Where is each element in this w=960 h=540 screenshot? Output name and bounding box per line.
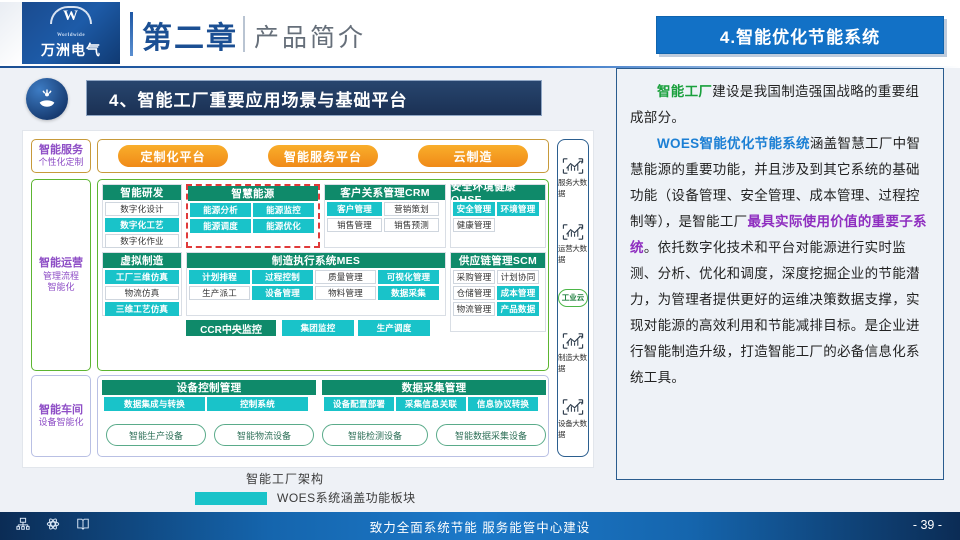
cell[interactable]: 控制系统 — [207, 397, 308, 411]
cell-blank — [497, 218, 539, 232]
cell[interactable]: 安全管理 — [453, 202, 495, 216]
bigdata-item-service[interactable]: 服务大数据 — [558, 156, 588, 199]
platform-row: 定制化平台 智能服务平台 云制造 — [97, 139, 549, 173]
module-equipment-control[interactable]: 设备控制管理 数据集成与转换 控制系统 — [102, 380, 316, 416]
paragraph-1: 智能工厂建设是我国制造强国战略的重要组成部分。 — [630, 79, 930, 131]
cell[interactable]: 能源分析 — [190, 203, 251, 217]
cell[interactable]: 采购管理 — [453, 270, 495, 284]
cell[interactable]: 营销策划 — [384, 202, 439, 216]
module-cells: 能源分析 能源监控 能源调度 能源优化 — [188, 201, 318, 235]
module-title: 智能研发 — [103, 185, 181, 200]
module-cells: 数据集成与转换 控制系统 — [102, 395, 316, 413]
page-number: - 39 - — [913, 518, 942, 532]
device-oval-logistics[interactable]: 智能物流设备 — [214, 424, 314, 446]
cell[interactable]: 产品数据 — [497, 302, 539, 316]
platform-customization[interactable]: 定制化平台 — [118, 145, 228, 167]
chapter-separator — [243, 16, 245, 52]
section-title: 4、智能工厂重要应用场景与基础平台 — [86, 80, 542, 116]
cell[interactable]: 健康管理 — [453, 218, 495, 232]
cell[interactable]: 计划协同 — [497, 270, 539, 284]
chart-bracket-icon — [561, 156, 585, 176]
cell[interactable]: 设备管理 — [252, 286, 313, 300]
module-mes[interactable]: 制造执行系统MES 计划排程 过程控制 质量管理 可视化管理 生产派工 设备管理… — [186, 252, 446, 316]
cell[interactable]: 可视化管理 — [378, 270, 439, 284]
keyword-woes: WOES智能优化节能系统 — [657, 136, 810, 151]
bigdata-item-operation[interactable]: 运营大数据 — [558, 222, 588, 265]
cell[interactable]: 数字化作业 — [105, 234, 179, 248]
level-label-smart-workshop: 智能车间 设备智能化 — [31, 375, 91, 457]
right-panel-title: 4.智能优化节能系统 — [656, 16, 944, 54]
module-smart-energy[interactable]: 智慧能源 能源分析 能源监控 能源调度 能源优化 — [186, 184, 320, 248]
cell[interactable]: 物流管理 — [453, 302, 495, 316]
cell[interactable]: 计划排程 — [189, 270, 250, 284]
cell[interactable]: 质量管理 — [315, 270, 376, 284]
cell[interactable]: 信息协议转换 — [468, 397, 538, 411]
module-title: 设备控制管理 — [102, 380, 316, 395]
module-cells: 数字化设计 数字化工艺 数字化作业 — [103, 200, 181, 250]
cell[interactable]: 生产派工 — [189, 286, 250, 300]
keyword-smart-factory: 智能工厂 — [657, 84, 712, 99]
chapter-number: 第二章 — [142, 13, 238, 57]
platform-cloud-manufacturing[interactable]: 云制造 — [418, 145, 528, 167]
module-cells: 工厂三维仿真 物流仿真 三维工艺仿真 — [103, 268, 181, 318]
logo-english-name: Worldwide — [57, 33, 85, 38]
cell[interactable]: 成本管理 — [497, 286, 539, 300]
cell[interactable]: 集团监控 — [282, 320, 354, 336]
module-ccr-row: CCR中央监控 集团监控 生产调度 — [186, 320, 446, 340]
chart-bracket-icon — [561, 222, 585, 242]
cell[interactable]: 数据集成与转换 — [104, 397, 205, 411]
module-title: 供应链管理SCM — [451, 253, 545, 268]
paragraph-2: WOES智能优化节能系统涵盖智慧工厂中智慧能源的重要功能，并且涉及到其它系统的基… — [630, 131, 930, 391]
level-label-smart-service: 智能服务 个性化定制 — [31, 139, 91, 173]
level-label-title: 智能车间 — [39, 404, 83, 418]
bigdata-label: 运营大数据 — [558, 243, 588, 265]
footer-slogan: 致力全面系统节能 服务能管中心建设 — [0, 512, 960, 540]
chapter-title: 产品简介 — [254, 18, 366, 54]
legend-color-swatch — [195, 492, 267, 505]
cell[interactable]: 能源监控 — [253, 203, 314, 217]
logo-mark-icon: W — [44, 6, 98, 32]
cell[interactable]: 能源调度 — [190, 219, 251, 233]
module-cells: 设备配置部署 采集信息关联 信息协议转换 — [322, 395, 546, 413]
module-cells: 安全管理 环境管理 健康管理 — [451, 200, 545, 234]
module-cells: 采购管理 计划协同 仓储管理 成本管理 物流管理 产品数据 — [451, 268, 545, 318]
module-title: 数据采集管理 — [322, 380, 546, 395]
cell[interactable]: 销售管理 — [327, 218, 382, 232]
module-cells: 客户管理 营销策划 销售管理 销售预测 — [325, 200, 445, 234]
logo-chinese-name: 万洲电气 — [41, 40, 101, 60]
module-title: 虚拟制造 — [103, 253, 181, 268]
cell[interactable]: 数字化工艺 — [105, 218, 179, 232]
company-logo: W Worldwide 万洲电气 — [22, 2, 120, 64]
paragraph-2-b: 。依托数字化技术和平台对能源进行实时监测、分析、优化和调度，深度挖掘企业的节能潜… — [630, 240, 920, 385]
cell[interactable]: 仓储管理 — [453, 286, 495, 300]
bigdata-item-manufacturing[interactable]: 制造大数据 — [558, 331, 588, 374]
cell[interactable]: 客户管理 — [327, 202, 382, 216]
logo-w-letter: W — [44, 8, 98, 25]
chart-bracket-icon — [561, 397, 585, 417]
module-qhse[interactable]: 安全环境健康QHSE 安全管理 环境管理 健康管理 — [450, 184, 546, 248]
footer-bar: 致力全面系统节能 服务能管中心建设 - 39 - — [0, 512, 960, 540]
bigdata-label: 设备大数据 — [558, 418, 588, 440]
cell[interactable]: 物流仿真 — [105, 286, 179, 300]
cell[interactable]: 环境管理 — [497, 202, 539, 216]
level-label-sub: 个性化定制 — [38, 157, 83, 168]
legend-text: WOES系统涵盖功能板块 — [277, 489, 416, 506]
module-cells: 计划排程 过程控制 质量管理 可视化管理 生产派工 设备管理 物料管理 数据采集 — [187, 268, 445, 302]
module-title: 安全环境健康QHSE — [451, 185, 545, 200]
module-virtual-manufacturing[interactable]: 虚拟制造 工厂三维仿真 物流仿真 三维工艺仿真 — [102, 252, 182, 316]
cell[interactable]: 销售预测 — [384, 218, 439, 232]
bigdata-label: 制造大数据 — [558, 352, 588, 374]
device-oval-production[interactable]: 智能生产设备 — [106, 424, 206, 446]
level-label-sub-2: 智能化 — [47, 282, 74, 293]
cell[interactable]: 过程控制 — [252, 270, 313, 284]
module-title: 客户关系管理CRM — [325, 185, 445, 200]
module-data-acquisition[interactable]: 数据采集管理 设备配置部署 采集信息关联 信息协议转换 — [322, 380, 546, 416]
level-label-title: 智能服务 — [39, 144, 83, 158]
cell[interactable]: 三维工艺仿真 — [105, 302, 179, 316]
module-smart-rd[interactable]: 智能研发 数字化设计 数字化工艺 数字化作业 — [102, 184, 182, 248]
device-oval-data-collection[interactable]: 智能数据采集设备 — [436, 424, 546, 446]
level-label-smart-operation: 智能运营 管理流程 智能化 — [31, 179, 91, 371]
module-title: 制造执行系统MES — [187, 253, 445, 268]
cell[interactable]: 物料管理 — [315, 286, 376, 300]
big-data-column: 服务大数据 运营大数据 工业云 制造大数据 — [557, 139, 589, 457]
bigdata-label: 服务大数据 — [558, 177, 588, 199]
industrial-cloud-icon[interactable]: 工业云 — [558, 289, 588, 307]
smart-factory-architecture-diagram: 智能服务 个性化定制 智能运营 管理流程 智能化 智能车间 设备智能化 定制化平… — [22, 130, 594, 468]
cell[interactable]: 能源优化 — [253, 219, 314, 233]
operation-layer-area: 智能研发 数字化设计 数字化工艺 数字化作业 智慧能源 能源分析 能源监控 能源… — [97, 179, 549, 371]
cell[interactable]: 数据采集 — [378, 286, 439, 300]
module-crm[interactable]: 客户关系管理CRM 客户管理 营销策划 销售管理 销售预测 — [324, 184, 446, 248]
cell[interactable]: 设备配置部署 — [324, 397, 394, 411]
device-oval-inspection[interactable]: 智能检测设备 — [322, 424, 428, 446]
level-label-sub-1: 管理流程 — [43, 271, 79, 282]
module-scm[interactable]: 供应链管理SCM 采购管理 计划协同 仓储管理 成本管理 物流管理 产品数据 — [450, 252, 546, 332]
bigdata-item-equipment[interactable]: 设备大数据 — [558, 397, 588, 440]
level-label-title: 智能运营 — [39, 257, 83, 271]
ccr-central-monitoring[interactable]: CCR中央监控 — [186, 320, 276, 336]
cell[interactable]: 生产调度 — [358, 320, 430, 336]
workshop-layer-area: 设备控制管理 数据集成与转换 控制系统 数据采集管理 设备配置部署 采集信息关联… — [97, 375, 549, 457]
diagram-caption: 智能工厂架构 — [246, 470, 324, 487]
chart-bracket-icon — [561, 331, 585, 351]
section-hand-gear-icon — [26, 78, 68, 120]
cell[interactable]: 工厂三维仿真 — [105, 270, 179, 284]
level-label-sub: 设备智能化 — [38, 417, 83, 428]
chapter-divider — [130, 12, 133, 56]
cell[interactable]: 数字化设计 — [105, 202, 179, 216]
right-panel-body: 智能工厂建设是我国制造强国战略的重要组成部分。 WOES智能优化节能系统涵盖智慧… — [616, 68, 944, 480]
platform-smart-service[interactable]: 智能服务平台 — [268, 145, 378, 167]
cell[interactable]: 采集信息关联 — [396, 397, 466, 411]
module-title: 智慧能源 — [188, 186, 318, 201]
